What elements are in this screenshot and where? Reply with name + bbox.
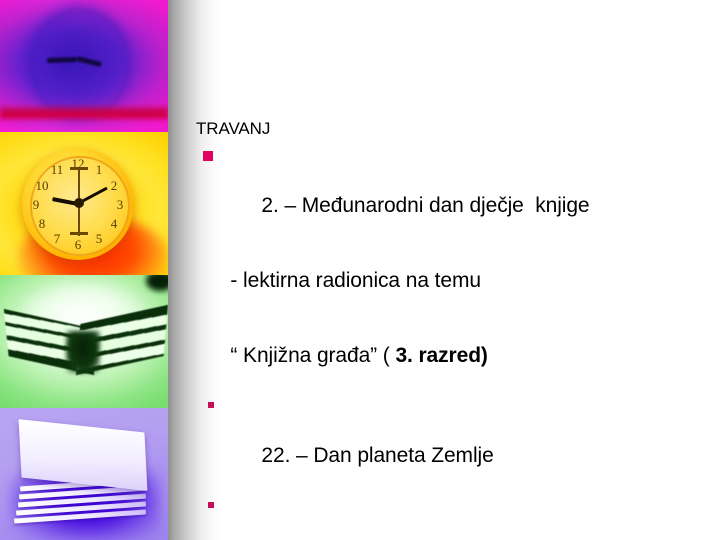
slide-text-body: TRAVANJ 2. – Međunarodni dan dječje knji… xyxy=(196,118,708,540)
clock-yellow-top-bar xyxy=(70,167,88,170)
clock-numeral-5: 5 xyxy=(92,232,106,245)
book-green-spine xyxy=(66,331,100,373)
panel-clock-yellow: 12 1 2 3 4 5 6 7 8 9 10 11 xyxy=(0,132,168,275)
list-item-label: - lektirna radionica na temu xyxy=(230,269,481,292)
clock-numeral-10: 10 xyxy=(35,179,49,192)
clock-yellow-bottom-bar xyxy=(70,232,88,235)
clock-magenta-minute-hand xyxy=(47,57,77,63)
page-title: TRAVANJ xyxy=(196,118,708,143)
clock-numeral-2: 2 xyxy=(107,179,121,192)
clock-yellow-pivot xyxy=(74,198,84,208)
clock-numeral-11: 11 xyxy=(50,163,64,176)
panel-book-green xyxy=(0,275,168,408)
list-item-dan-planeta-zemlje: 22. – Dan planeta Zemlje xyxy=(196,393,708,493)
clock-numeral-7: 7 xyxy=(50,232,64,245)
list-item-lektirna-radionica: - lektirna radionica na temu xyxy=(196,243,708,318)
list-item-label: 2. – Međunarodni dan dječje knjige xyxy=(261,194,589,217)
list-item-dan-djecje-knjige: 2. – Međunarodni dan dječje knjige xyxy=(196,143,708,243)
clock-numeral-6: 6 xyxy=(71,238,85,251)
clock-numeral-9: 9 xyxy=(29,198,43,211)
collage-image: 12 1 2 3 4 5 6 7 8 9 10 11 xyxy=(0,0,168,540)
panel-paper-purple xyxy=(0,408,168,540)
clock-numeral-8: 8 xyxy=(35,217,49,230)
clock-numeral-4: 4 xyxy=(107,217,121,230)
crimson-divider-band xyxy=(0,104,168,122)
list-item-emphasis: 3. razred) xyxy=(395,344,487,367)
list-item-label: 22. – Dan planeta Zemlje xyxy=(261,444,493,467)
list-item-svjetski-dan-knjiga: 23. – Svjetski dan knjiga i autorskog pr… xyxy=(196,493,708,540)
clock-numeral-1: 1 xyxy=(92,163,106,176)
panel-clock-magenta xyxy=(0,0,168,132)
square-bullet-icon xyxy=(203,151,213,161)
clock-numeral-3: 3 xyxy=(113,198,127,211)
slide-canvas: 12 1 2 3 4 5 6 7 8 9 10 11 xyxy=(0,0,720,540)
book-green-corner-shadow xyxy=(146,275,168,291)
list-item-label: “ Knjižna građa” ( xyxy=(230,344,395,367)
square-bullet-icon xyxy=(208,502,214,508)
clock-yellow-upper-stem xyxy=(78,168,80,200)
square-bullet-icon xyxy=(208,402,214,408)
list-item-knjizna-grada: “ Knjižna građa” ( 3. razred) xyxy=(196,318,708,393)
